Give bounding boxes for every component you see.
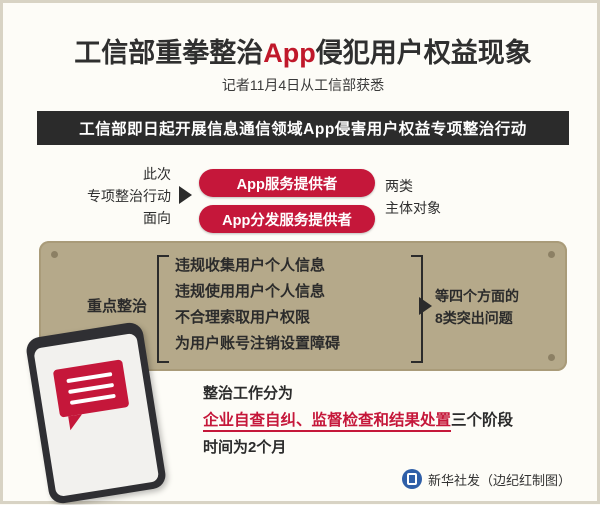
xinhua-logo-icon (402, 469, 422, 489)
targets-left-label-line-2: 专项整治行动 (31, 185, 171, 207)
focus-items-list: 违规收集用户个人信息 违规使用用户个人信息 不合理索取用户权限 为用户账号注销设… (175, 253, 407, 357)
focus-summary-line-2: 8类突出问题 (435, 307, 561, 329)
focus-label: 重点整治 (55, 295, 147, 316)
bracket-left-icon (157, 255, 169, 363)
focus-summary-line-1: 等四个方面的 (435, 285, 561, 307)
list-item: 违规收集用户个人信息 (175, 253, 407, 279)
phone-screen (33, 333, 159, 497)
footer-credit: 新华社发（边纪红制图） (402, 469, 571, 489)
target-pill-app-distribution-provider: App分发服务提供者 (199, 205, 375, 233)
arrow-right-icon (419, 297, 432, 315)
targets-left-label-line-3: 面向 (31, 207, 171, 229)
title-prefix: 工信部重拳整治 (74, 38, 263, 68)
stages-line-3: 时间为2个月 (203, 435, 593, 461)
screw-dot-icon (548, 354, 555, 361)
screw-dot-icon (548, 251, 555, 258)
bubble-line (66, 372, 112, 383)
screw-dot-icon (51, 251, 58, 258)
targets-left-label-line-1: 此次 (31, 163, 171, 185)
infographic-frame: 工信部重拳整治App侵犯用户权益现象 记者11月4日从工信部获悉 工信部即日起开… (0, 0, 600, 504)
arrow-right-icon (179, 186, 192, 204)
list-item: 为用户账号注销设置障碍 (175, 331, 407, 357)
focus-summary-label: 等四个方面的 8类突出问题 (435, 285, 561, 329)
message-bubble-tail-icon (68, 414, 84, 430)
headline-banner: 工信部即日起开展信息通信领域App侵害用户权益专项整治行动 (37, 111, 569, 145)
stages-block: 整治工作分为 企业自查自纠、监督检查和结果处置三个阶段 时间为2个月 (203, 381, 593, 461)
subtitle: 记者11月4日从工信部获悉 (3, 75, 600, 95)
message-bubble-icon (53, 359, 130, 417)
targets-right-label: 两类 主体对象 (385, 175, 515, 219)
title-accent: App (263, 38, 315, 68)
stages-line-2: 企业自查自纠、监督检查和结果处置三个阶段 (203, 407, 593, 435)
targets-right-label-line-2: 主体对象 (385, 197, 515, 219)
targets-left-label: 此次 专项整治行动 面向 (31, 163, 171, 229)
list-item: 不合理索取用户权限 (175, 305, 407, 331)
list-item: 违规使用用户个人信息 (175, 279, 407, 305)
stages-highlight: 企业自查自纠、监督检查和结果处置 (203, 412, 451, 432)
title-suffix: 侵犯用户权益现象 (316, 38, 532, 68)
targets-right-label-line-1: 两类 (385, 175, 515, 197)
bubble-line (70, 394, 116, 405)
target-pill-app-service-provider: App服务提供者 (199, 169, 375, 197)
stages-line-1: 整治工作分为 (203, 381, 593, 407)
headline-banner-text: 工信部即日起开展信息通信领域App侵害用户权益专项整治行动 (79, 117, 527, 139)
footer-credit-text: 新华社发（边纪红制图） (428, 470, 571, 489)
page-title: 工信部重拳整治App侵犯用户权益现象 (3, 31, 600, 70)
stages-line-2-tail: 三个阶段 (451, 412, 513, 429)
bubble-line (68, 383, 114, 394)
